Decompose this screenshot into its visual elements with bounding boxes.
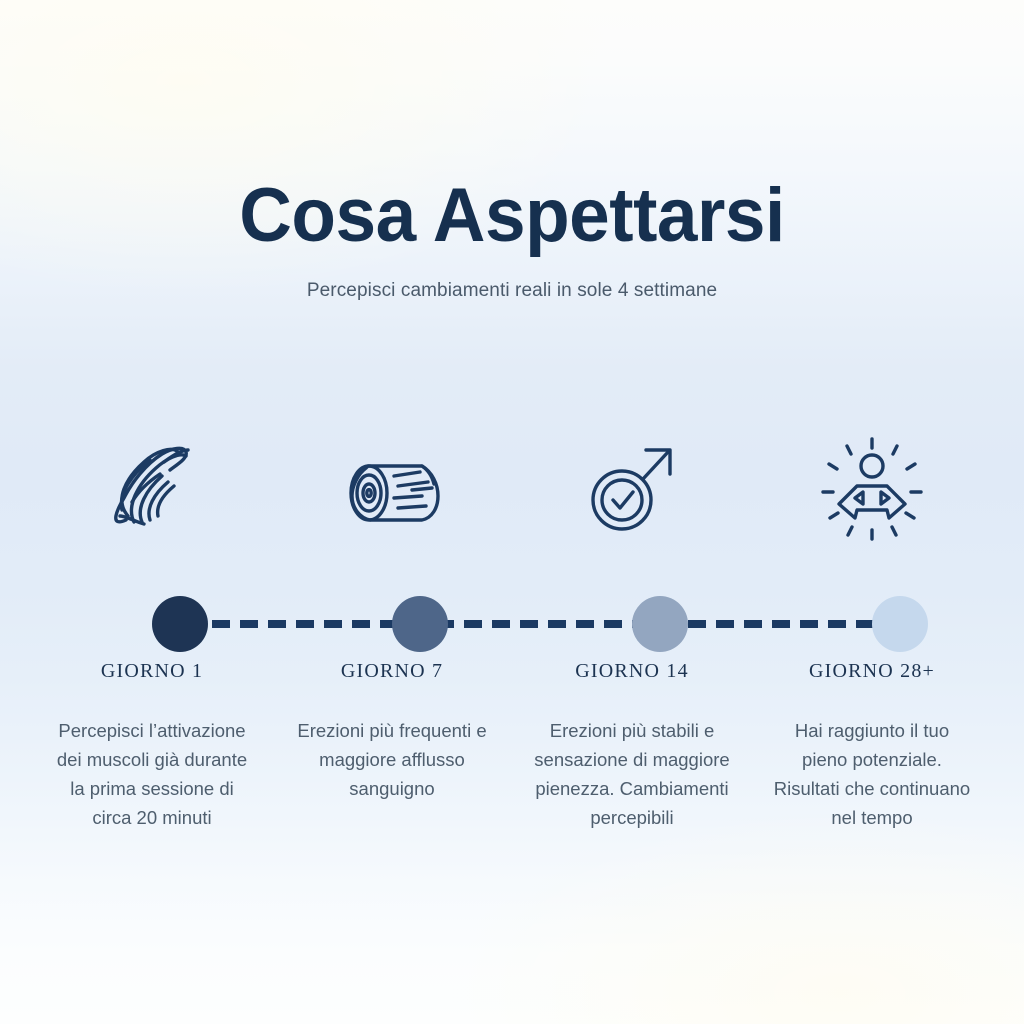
confident-person-rays-icon [797, 420, 947, 556]
timeline-labels-row: GIORNO 1 GIORNO 7 GIORNO 14 GIORNO 28+ [32, 660, 992, 683]
timeline-dashed-line [184, 620, 888, 628]
page-subtitle: Percepisci cambiamenti reali in sole 4 s… [0, 280, 1024, 302]
timeline-step-2 [272, 420, 512, 556]
timeline-label-2: GIORNO 7 [272, 660, 512, 683]
timeline-step-4 [752, 420, 992, 556]
timeline-label-1: GIORNO 1 [32, 660, 272, 683]
timeline-step-3 [512, 420, 752, 556]
timeline-icons-row [32, 420, 992, 556]
timeline-rail [32, 596, 992, 652]
wood-log-icon [317, 420, 467, 556]
timeline-dot-4 [872, 596, 928, 652]
timeline-dot-3 [632, 596, 688, 652]
header: Cosa Aspettarsi Percepisci cambiamenti r… [0, 178, 1024, 302]
timeline-description-2: Erezioni più frequenti e maggiore afflus… [272, 716, 512, 803]
timeline-description-4: Hai raggiunto il tuo pieno potenziale. R… [752, 716, 992, 832]
timeline-description-3: Erezioni più stabili e sensazione di mag… [512, 716, 752, 832]
timeline-descriptions-row: Percepisci l’attivazione dei muscoli già… [32, 716, 992, 832]
timeline-dot-2 [392, 596, 448, 652]
male-symbol-check-icon [557, 420, 707, 556]
timeline-label-4: GIORNO 28+ [752, 660, 992, 683]
timeline-label-3: GIORNO 14 [512, 660, 752, 683]
timeline-step-1 [32, 420, 272, 556]
page-title: Cosa Aspettarsi [20, 178, 1003, 254]
timeline-dot-1 [152, 596, 208, 652]
infographic-page: Cosa Aspettarsi Percepisci cambiamenti r… [0, 0, 1024, 1024]
muscle-fiber-icon [77, 420, 227, 556]
timeline-description-1: Percepisci l’attivazione dei muscoli già… [32, 716, 272, 832]
